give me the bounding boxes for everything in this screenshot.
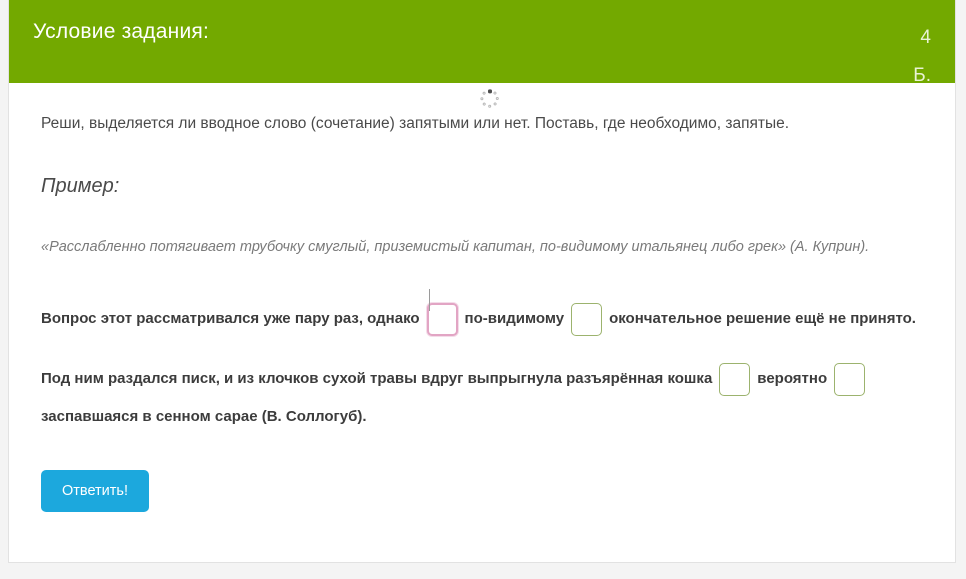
question-1-part-3: окончательное решение ещё не принято. xyxy=(609,310,916,327)
question-1-part-2: по-видимому xyxy=(465,310,565,327)
points-badge: 4 Б. xyxy=(901,19,931,95)
question-1-answer-input-1[interactable] xyxy=(427,303,458,336)
example-quote-text: «Расслабленно потягивает трубочку смуглы… xyxy=(41,235,925,260)
submit-answer-button[interactable]: Ответить! xyxy=(41,470,149,512)
example-heading: Пример: xyxy=(41,173,925,199)
question-2-answer-input-1[interactable] xyxy=(719,363,750,396)
task-header: Условие задания: 4 Б. xyxy=(9,0,955,83)
task-card: Условие задания: 4 Б. Реши, выделяется л… xyxy=(8,0,956,563)
instruction-text: Реши, выделяется ли вводное слово (сочет… xyxy=(41,111,886,137)
page-title: Условие задания: xyxy=(33,19,209,45)
question-2-part-1: Под ним раздался писк, и из клочков сухо… xyxy=(41,370,712,387)
points-unit: Б. xyxy=(901,57,931,95)
question-2-part-2: вероятно xyxy=(757,370,827,387)
question-1-part-1: Вопрос этот рассматривался уже пару раз,… xyxy=(41,310,420,327)
points-value: 4 xyxy=(901,19,931,57)
question-1: Вопрос этот рассматривался уже пару раз,… xyxy=(41,300,921,338)
task-body: Реши, выделяется ли вводное слово (сочет… xyxy=(9,83,955,512)
submit-row: Ответить! xyxy=(41,466,925,512)
question-2-part-3: заспавшаяся в сенном сарае (В. Соллогуб)… xyxy=(41,408,367,425)
question-2-answer-input-2[interactable] xyxy=(834,363,865,396)
question-1-answer-input-2[interactable] xyxy=(571,303,602,336)
spinner-icon xyxy=(480,89,500,109)
question-2: Под ним раздался писк, и из клочков сухо… xyxy=(41,360,921,436)
